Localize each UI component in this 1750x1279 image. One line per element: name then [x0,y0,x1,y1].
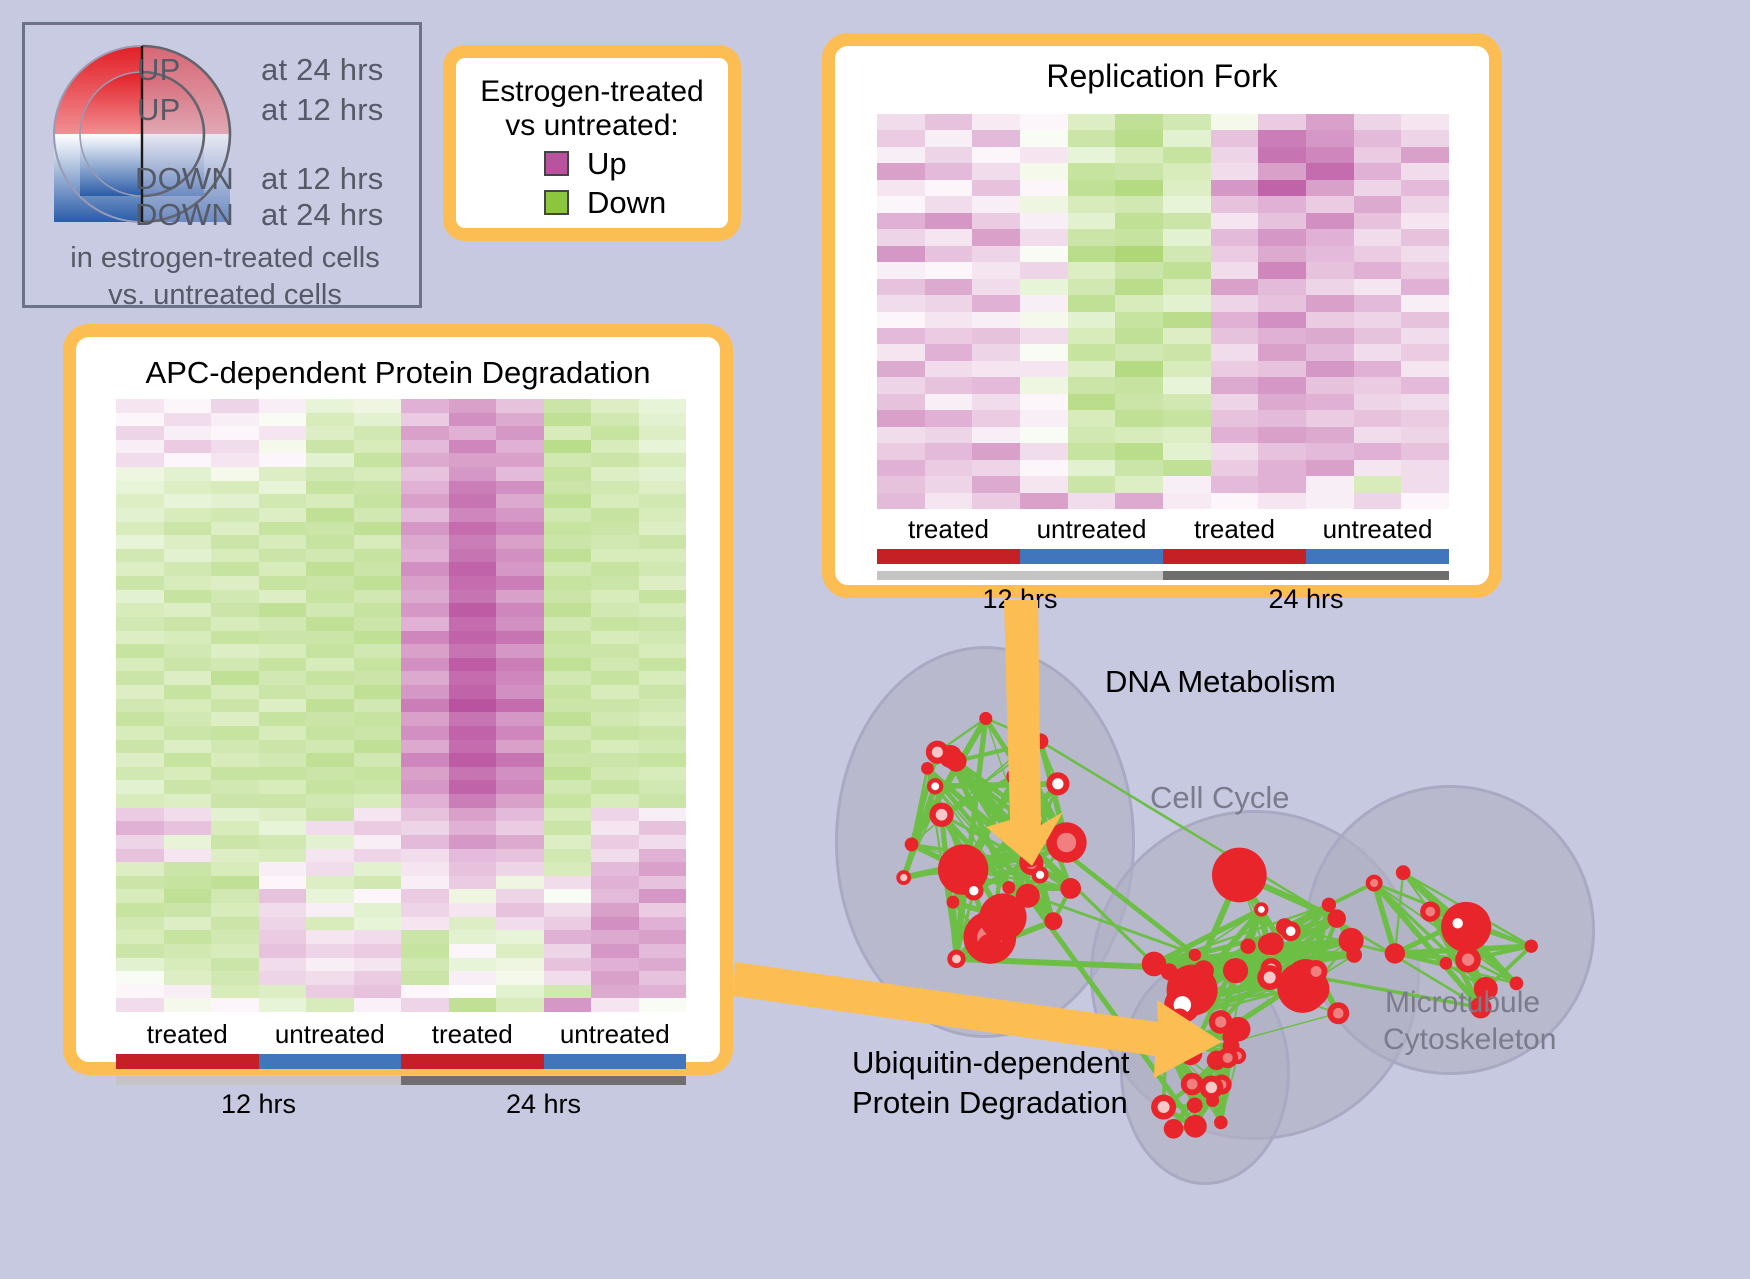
heatmap-cell [1020,328,1068,344]
heatmap-cell [591,903,639,917]
network-node[interactable] [896,870,911,885]
heatmap-cell [877,262,925,278]
group-label: treated [877,514,1020,545]
heatmap-cell [1020,180,1068,196]
heatmap-cell [591,413,639,427]
heatmap-cell [449,426,497,440]
network-node[interactable] [1187,1097,1203,1113]
network-node[interactable] [1006,768,1023,785]
network-node[interactable] [1322,898,1336,912]
heatmap-cell [591,617,639,631]
heatmap-cell [211,740,259,754]
heatmap-cell [925,262,973,278]
heatmap-cell [1115,180,1163,196]
heatmap-cell [925,246,973,262]
heatmap-cell [1163,229,1211,245]
heatmap-cell [259,685,307,699]
heatmap-cell [1020,361,1068,377]
heatmap-cell [306,971,354,985]
heatmap-cell [211,971,259,985]
heatmap-cell [544,481,592,495]
apc-degradation-panel: APC-dependent Protein Degradation treate… [63,324,733,1075]
heatmap-cell [877,130,925,146]
heatmap-cell [354,562,402,576]
heatmap-cell [306,794,354,808]
network-node[interactable] [1199,1075,1223,1099]
heatmap-cell [1211,163,1259,179]
heatmap-cell [1306,180,1354,196]
heatmap-cell [496,426,544,440]
heatmap-cell [925,279,973,295]
network-node[interactable] [1179,1042,1202,1065]
heatmap-cell [401,876,449,890]
heatmap-cell [211,508,259,522]
heatmap-cell [449,685,497,699]
heatmap-cell [1020,114,1068,130]
heatmap-cell [401,903,449,917]
heatmap-cell [1401,130,1449,146]
heatmap-cell [306,603,354,617]
heatmap-cell [306,685,354,699]
heatmap-cell [306,740,354,754]
heatmap-cell [401,740,449,754]
heatmap-cell [116,590,164,604]
heatmap-cell [354,794,402,808]
heatmap-cell [211,413,259,427]
heatmap-cell [972,246,1020,262]
network-node[interactable] [1151,1095,1176,1120]
color-key-caption: in estrogen-treated cells vs. untreated … [25,240,425,314]
heatmap-cell [496,399,544,413]
network-node[interactable] [1002,881,1015,894]
network-node[interactable] [1420,901,1440,921]
heatmap-cell [1163,328,1211,344]
heatmap-cell [1401,262,1449,278]
heatmap-cell [496,835,544,849]
heatmap-cell [164,617,212,631]
heatmap-cell [1068,476,1116,492]
heatmap-cell [972,114,1020,130]
heatmap-cell [211,590,259,604]
heatmap-cell [877,394,925,410]
network-node[interactable] [1212,848,1267,903]
heatmap-cell [211,903,259,917]
heatmap-cell [116,835,164,849]
heatmap-cell [1354,295,1402,311]
heatmap-cell [544,590,592,604]
heatmap-cell [306,958,354,972]
heatmap-cell [449,699,497,713]
heatmap-cell [1068,328,1116,344]
network-node[interactable] [1396,865,1411,880]
heatmap-cell [449,590,497,604]
heatmap-cell [925,196,973,212]
heatmap-cell [449,971,497,985]
heatmap-cell [306,985,354,999]
heatmap-cell [1020,460,1068,476]
heatmap-cell [925,229,973,245]
figure-canvas: UP at 24 hrs UP at 12 hrs DOWN at 12 hrs… [0,0,1750,1279]
heatmap-cell [1211,130,1259,146]
heatmap-cell [116,944,164,958]
network-node[interactable] [1164,1119,1184,1139]
heatmap-cell [1115,377,1163,393]
heatmap-cell [544,767,592,781]
heatmap-cell [591,876,639,890]
heatmap-cell [639,998,687,1012]
network-node[interactable] [1258,934,1278,954]
heatmap-cell [1115,196,1163,212]
heatmap-cell [639,535,687,549]
network-node[interactable] [1240,939,1255,954]
heatmap-cell [1163,279,1211,295]
network-node[interactable] [926,741,949,764]
heatmap-cell [306,726,354,740]
network-node[interactable] [1447,913,1469,935]
heatmap-cell [449,726,497,740]
heatmap-cell [544,808,592,822]
condition-bar-segment [401,1054,544,1069]
network-node[interactable] [1223,958,1248,983]
heatmap-cell [449,740,497,754]
network-node[interactable] [1385,943,1405,963]
heatmap-cell [449,440,497,454]
network-node[interactable] [1188,1120,1202,1134]
network-node[interactable] [1254,902,1268,916]
heatmap-cell [1211,114,1259,130]
heatmap-cell [116,522,164,536]
heatmap-cell [164,876,212,890]
network-node[interactable] [1214,1116,1228,1130]
heatmap-cell [972,493,1020,509]
heatmap-cell [639,631,687,645]
heatmap-cell [354,889,402,903]
network-node[interactable] [1525,939,1538,952]
network-node[interactable] [1029,819,1042,832]
heatmap-cell [306,522,354,536]
heatmap-cell [354,876,402,890]
heatmap-cell [449,603,497,617]
network-node[interactable] [947,896,960,909]
heatmap-cell [116,562,164,576]
heatmap-cell [544,849,592,863]
heatmap-cell [591,508,639,522]
heatmap-cell [496,712,544,726]
heatmap-cell [591,481,639,495]
heatmap-cell [496,726,544,740]
heatmap-cell [591,917,639,931]
heatmap-cell [496,903,544,917]
heatmap-cell [259,576,307,590]
heatmap-cell [544,644,592,658]
heatmap-cell [496,985,544,999]
heatmap-cell [1068,246,1116,262]
heatmap-cell [1068,295,1116,311]
heatmap-cell [401,590,449,604]
heatmap-cell [401,535,449,549]
heatmap-cell [1401,427,1449,443]
heatmap-cell [449,903,497,917]
heatmap-cell [1163,180,1211,196]
heatmap-cell [1258,493,1306,509]
heatmap-cell [1115,229,1163,245]
heatmap-cell [544,917,592,931]
heatmap-cell [925,180,973,196]
heatmap-cell [972,394,1020,410]
network-node[interactable] [1193,960,1214,981]
heatmap-cell [639,522,687,536]
heatmap-cell [544,699,592,713]
heatmap-cell [877,295,925,311]
heatmap-cell [306,440,354,454]
heatmap-cell [449,794,497,808]
heatmap-cell [306,889,354,903]
heatmap-cell [1258,196,1306,212]
heatmap-cell [925,213,973,229]
network-node[interactable] [1222,1029,1238,1045]
heatmap-cell [639,753,687,767]
key-up-12-time: at 12 hrs [261,92,383,128]
network-node[interactable] [905,838,919,852]
heatmap-cell [1068,114,1116,130]
network-node[interactable] [1032,866,1049,883]
heatmap-cell [1068,427,1116,443]
network-node[interactable] [1366,875,1383,892]
network-node[interactable] [1281,921,1301,941]
replication-fork-condition-bar [877,549,1449,564]
heatmap-cell [496,740,544,754]
heatmap-cell [1020,295,1068,311]
heatmap-cell [401,958,449,972]
heatmap-cell [354,590,402,604]
heatmap-cell [925,130,973,146]
heatmap-cell [639,658,687,672]
heatmap-cell [1401,295,1449,311]
heatmap-cell [401,549,449,563]
heatmap-cell [544,712,592,726]
network-node[interactable] [1189,949,1201,961]
heatmap-cell [544,426,592,440]
heatmap-cell [211,985,259,999]
network-node[interactable] [1440,957,1453,970]
heatmap-cell [639,821,687,835]
heatmap-cell [1401,279,1449,295]
heatmap-cell [1401,443,1449,459]
network-node[interactable] [1011,744,1027,760]
heatmap-cell [1401,229,1449,245]
time-bar-segment [1163,571,1449,580]
heatmap-cell [591,985,639,999]
heatmap-cell [116,794,164,808]
network-node[interactable] [1044,912,1062,930]
network-node[interactable] [921,762,934,775]
heatmap-cell [116,453,164,467]
heatmap-cell [354,399,402,413]
heatmap-cell [354,753,402,767]
heatmap-cell [639,603,687,617]
heatmap-cell [116,958,164,972]
heatmap-cell [116,726,164,740]
heatmap-cell [306,426,354,440]
heatmap-cell [354,549,402,563]
heatmap-cell [401,399,449,413]
heatmap-cell [1306,377,1354,393]
heatmap-cell [259,753,307,767]
heatmap-cell [116,917,164,931]
heatmap-cell [164,535,212,549]
network-node[interactable] [1046,772,1069,795]
heatmap-cell [449,576,497,590]
heatmap-cell [591,835,639,849]
heatmap-cell [972,147,1020,163]
heatmap-cell [496,889,544,903]
network-node[interactable] [1060,878,1081,899]
heatmap-cell [449,808,497,822]
heatmap-cell [1401,377,1449,393]
heatmap-cell [354,494,402,508]
heatmap-cell [1115,344,1163,360]
network-node[interactable] [964,881,984,901]
heatmap-cell [354,644,402,658]
heatmap-cell [1068,377,1116,393]
heatmap-cell [496,508,544,522]
heatmap-cell [496,576,544,590]
heatmap-cell [639,440,687,454]
heatmap-cell [639,985,687,999]
heatmap-cell [164,413,212,427]
heatmap-cell [401,930,449,944]
heatmap-cell [1068,493,1116,509]
heatmap-cell [116,930,164,944]
heatmap-cell [211,685,259,699]
heatmap-cell [496,481,544,495]
heatmap-cell [1068,394,1116,410]
heatmap-cell [1258,361,1306,377]
heatmap-cell [591,794,639,808]
heatmap-cell [972,196,1020,212]
heatmap-cell [401,699,449,713]
heatmap-cell [449,849,497,863]
network-node[interactable] [1217,1047,1238,1068]
heatmap-cell [1354,246,1402,262]
heatmap-cell [1354,229,1402,245]
network-node[interactable] [1327,1002,1349,1024]
network-node[interactable] [927,778,943,794]
group-label: untreated [1020,514,1163,545]
heatmap-cell [925,344,973,360]
network-node[interactable] [1346,947,1362,963]
heatmap-cell [496,631,544,645]
network-node[interactable] [929,803,953,827]
heatmap-cell [211,712,259,726]
heatmap-cell [544,467,592,481]
heatmap-cell [639,849,687,863]
heatmap-cell [259,958,307,972]
network-node[interactable] [977,934,1002,959]
heatmap-cell [259,413,307,427]
network-node[interactable] [1164,1009,1178,1023]
network-node[interactable] [1455,947,1481,973]
time-label: 12 hrs [877,584,1163,615]
heatmap-cell [591,467,639,481]
heatmap-cell [116,535,164,549]
network-node[interactable] [1257,965,1282,990]
heatmap-cell [354,617,402,631]
network-node[interactable] [1142,952,1167,977]
heatmap-cell [354,481,402,495]
heatmap-cell [877,443,925,459]
heatmap-cell [1306,443,1354,459]
network-node[interactable] [1305,960,1328,983]
heatmap-cell [544,930,592,944]
heatmap-cell [354,440,402,454]
heatmap-cell [354,508,402,522]
heatmap-cell [401,889,449,903]
network-node[interactable] [1046,822,1086,862]
replication-fork-time-labels: 12 hrs24 hrs [877,584,1449,615]
heatmap-cell [639,889,687,903]
heatmap-cell [354,453,402,467]
heatmap-cell [877,246,925,262]
group-label: treated [116,1019,259,1050]
heatmap-cell [925,163,973,179]
heatmap-cell [639,740,687,754]
heatmap-cell [164,835,212,849]
heatmap-cell [1211,328,1259,344]
apc-degradation-time-bar [116,1076,686,1085]
apc-degradation-group-labels: treateduntreatedtreateduntreated [116,1019,686,1050]
heatmap-cell [877,344,925,360]
heatmap-cell [1115,443,1163,459]
heatmap-cell [401,835,449,849]
heatmap-cell [639,576,687,590]
key-down-24-time: at 24 hrs [261,197,383,233]
heatmap-cell [259,998,307,1012]
network-node[interactable] [1020,847,1040,867]
heatmap-cell [116,753,164,767]
time-bar-segment [116,1076,401,1085]
heatmap-cell [306,508,354,522]
heatmap-cell [544,603,592,617]
heatmap-cell [1354,443,1402,459]
apc-degradation-title: APC-dependent Protein Degradation [76,355,720,391]
legend-title: Estrogen-treated vs untreated: [456,75,728,143]
network-node[interactable] [1016,884,1040,908]
heatmap-cell [639,944,687,958]
heatmap-cell [1258,229,1306,245]
heatmap-cell [259,876,307,890]
heatmap-cell [496,917,544,931]
heatmap-cell [1211,312,1259,328]
network-node[interactable] [1327,909,1346,928]
network-node[interactable] [1153,1026,1177,1050]
heatmap-cell [496,440,544,454]
heatmap-cell [639,808,687,822]
heatmap-cell [211,726,259,740]
heatmap-cell [1354,427,1402,443]
heatmap-cell [401,794,449,808]
network-node[interactable] [979,712,992,725]
network-node[interactable] [946,751,967,772]
network-node[interactable] [947,950,965,968]
key-down-12-label: DOWN [135,161,234,197]
heatmap-cell [449,712,497,726]
heatmap-cell [164,699,212,713]
heatmap-cell [1401,493,1449,509]
heatmap-cell [211,644,259,658]
network-node[interactable] [1033,733,1049,749]
heatmap-cell [259,562,307,576]
